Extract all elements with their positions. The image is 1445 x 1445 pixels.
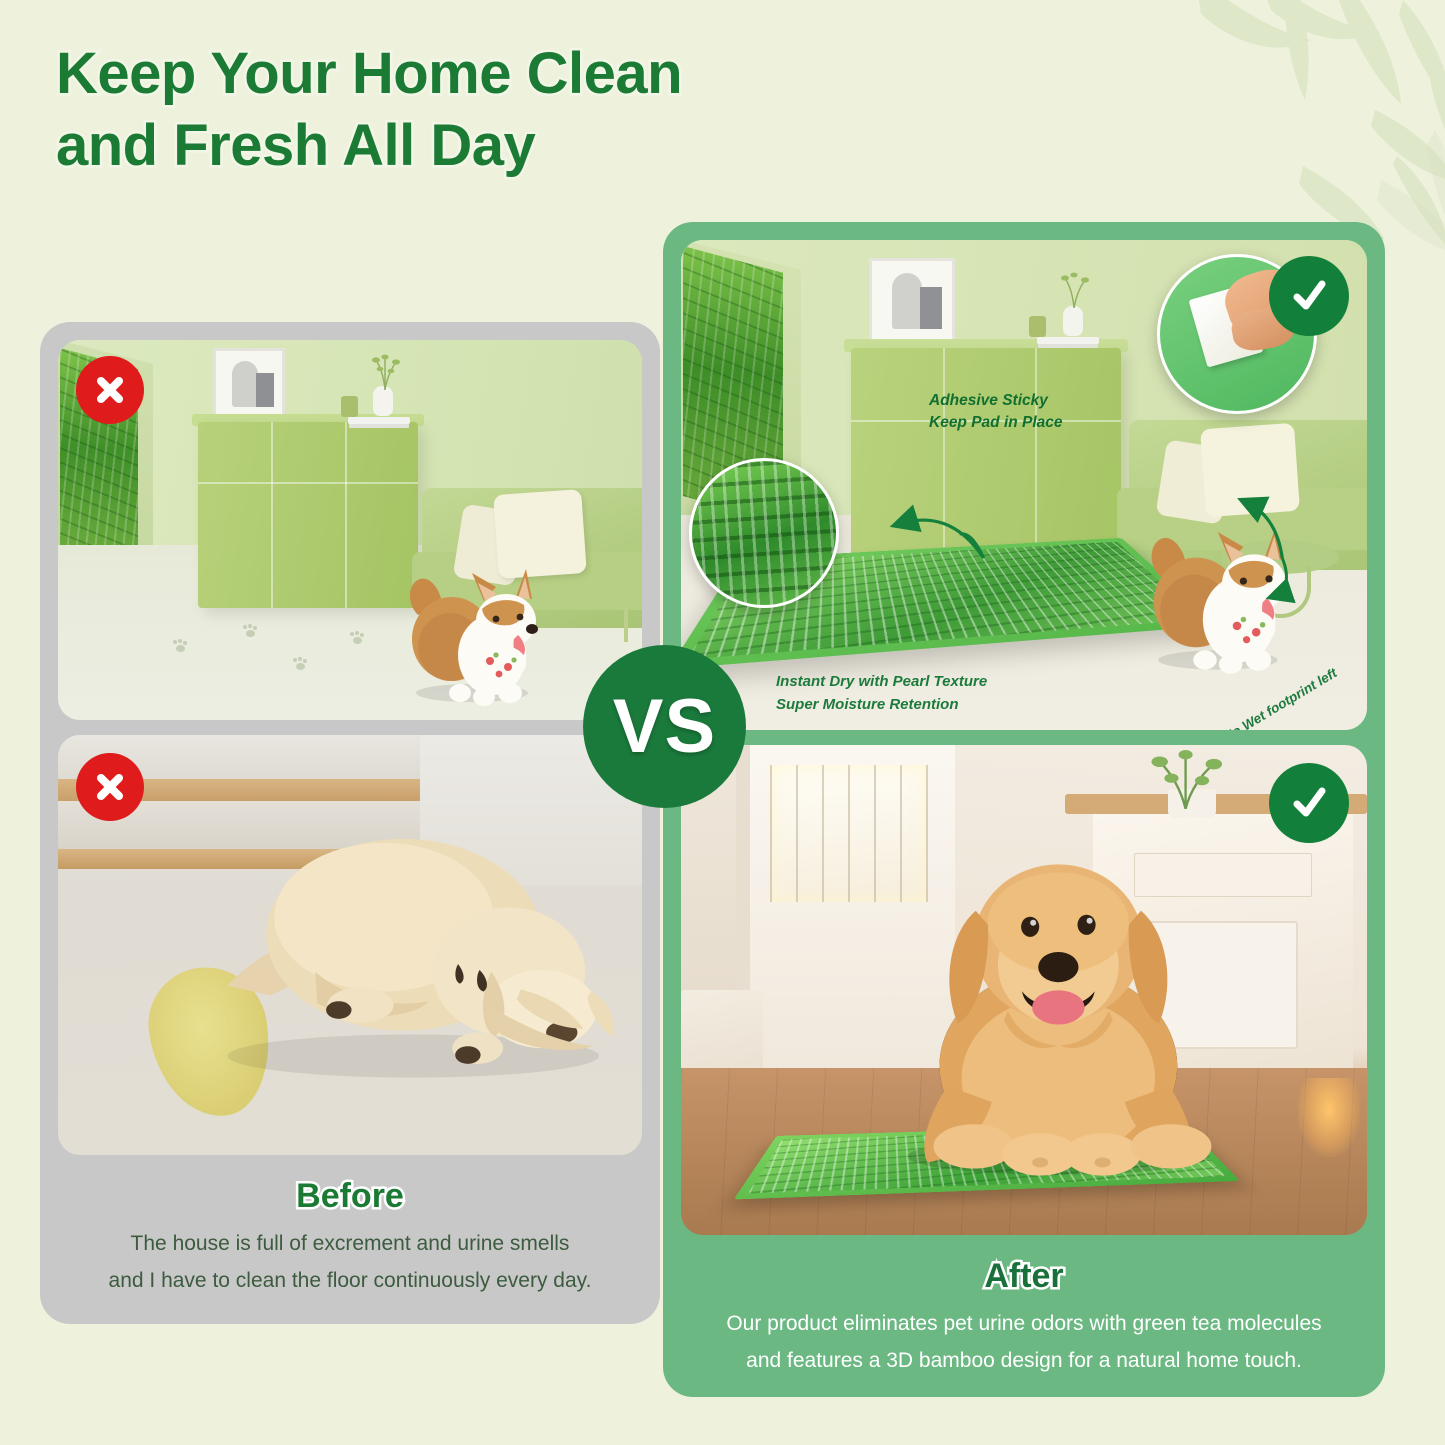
books-stack: [348, 417, 410, 424]
vs-badge: VS: [583, 645, 746, 808]
before-caption-title: Before: [58, 1177, 642, 1216]
page-title: Keep Your Home Clean and Fresh All Day: [56, 38, 682, 182]
wall-art-frame: [869, 258, 955, 344]
white-vase: [1063, 306, 1083, 336]
paw-print: [350, 632, 365, 644]
corgi-dog: [400, 543, 550, 708]
paw-print: [293, 658, 308, 670]
wall-art-frame: [213, 348, 285, 420]
before-card: Before The house is full of excrement an…: [40, 322, 660, 1324]
instant-dry-annotation: Instant Dry with Pearl Texture Super Moi…: [776, 671, 987, 716]
check-icon: [1288, 782, 1330, 824]
before-photo-living-room: [58, 340, 642, 720]
green-cup: [1029, 316, 1046, 337]
after-card: Adhesive Sticky Keep Pad in Place Instan…: [663, 222, 1385, 1397]
check-badge: [1269, 763, 1349, 843]
after-caption-body: Our product eliminates pet urine odors w…: [681, 1306, 1367, 1380]
after-caption-title: After: [681, 1257, 1367, 1296]
plant-icon: [368, 354, 402, 390]
green-cabinet: [851, 348, 1121, 560]
white-vase: [373, 386, 393, 416]
product-scene: Adhesive Sticky Keep Pad in Place Instan…: [681, 240, 1367, 730]
books-stack: [1037, 337, 1099, 344]
cross-badge: [76, 753, 144, 821]
paw-print: [173, 640, 188, 652]
cross-icon: [93, 770, 127, 804]
check-badge: [1269, 256, 1349, 336]
happy-golden-retriever: [880, 814, 1237, 1177]
bamboo-texture-zoom-circle: [689, 458, 839, 608]
room-scene: [58, 340, 642, 720]
corgi-dog: [1141, 500, 1301, 676]
warm-lamp-glow: [1298, 1078, 1360, 1156]
paw-print: [243, 625, 258, 637]
after-photo-entryway: [681, 745, 1367, 1235]
check-icon: [1288, 275, 1330, 317]
cross-icon: [93, 373, 127, 407]
before-photo-urine-accident: [58, 735, 642, 1155]
before-caption-body: The house is full of excrement and urine…: [58, 1226, 642, 1300]
sad-golden-retriever: [198, 759, 618, 1089]
green-cabinet: [198, 422, 418, 608]
plant-icon: [1141, 750, 1230, 809]
green-cup: [341, 396, 358, 417]
adhesive-annotation: Adhesive Sticky Keep Pad in Place: [929, 390, 1063, 435]
sofa-leg: [624, 608, 628, 642]
plant-icon: [1057, 272, 1091, 308]
after-photo-product-render: Adhesive Sticky Keep Pad in Place Instan…: [681, 240, 1367, 730]
cross-badge: [76, 356, 144, 424]
